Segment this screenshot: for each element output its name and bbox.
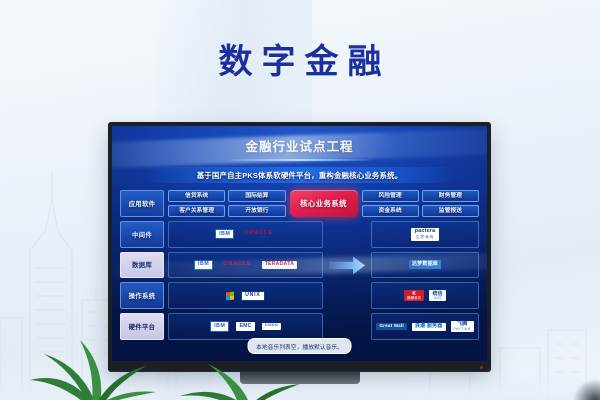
plant-left: [16, 324, 166, 400]
database-legacy-panel: IBM ORACLE TERADATA: [168, 252, 323, 279]
app-box-settlement[interactable]: 国际结算: [228, 190, 285, 202]
unix-logo: UNIX: [241, 291, 265, 301]
app-box-risk[interactable]: 风险管理: [362, 190, 419, 202]
hardware-arrow-cell: [327, 313, 367, 340]
app-box-regulatory[interactable]: 监管报送: [422, 205, 479, 217]
layer-chip-application[interactable]: 应用软件: [120, 190, 164, 217]
kylin-logo-subtext: 麒麟软件: [407, 297, 421, 300]
application-layer-row: 信贷系统 国际结算 客户关系管理 开放银行 核心业务系统 风险管理 财务管理 资…: [168, 190, 479, 217]
middleware-layer-row: IBM ORACLE pactera 文思海辉: [168, 221, 479, 248]
os-domestic-panel: K 麒麟软件 统信 UOS: [371, 282, 479, 309]
hardware-domestic-panel: Great Wall 浪潮 服务器 飞腾 PHYTIUM: [371, 313, 479, 340]
emc-logo: EMC: [236, 322, 254, 330]
oracle-logo-middleware: ORACLE: [241, 230, 275, 239]
slide-title: 金融行业试点工程: [120, 136, 479, 155]
windows-icon: [226, 291, 234, 300]
tv-screen: 金融行业试点工程 基于国产自主PKS体系软硬件平台，重构金融核心业务系统。 应用…: [112, 126, 487, 361]
database-domestic-panel: 达梦数据库: [371, 252, 479, 279]
layer-chip-os[interactable]: 操作系统: [120, 282, 164, 309]
database-arrow-cell: [327, 252, 367, 279]
page-title: 数字金融: [0, 34, 600, 83]
diagram-body: 信贷系统 国际结算 客户关系管理 开放银行 核心业务系统 风险管理 财务管理 资…: [168, 190, 479, 340]
application-left-group: 信贷系统 国际结算 客户关系管理 开放银行: [168, 190, 286, 217]
greatwall-logo: Great Wall: [376, 323, 407, 331]
core-business-system-box[interactable]: 核心业务系统: [290, 190, 358, 217]
migration-arrow-icon: [327, 252, 367, 279]
dameng-logo: 达梦数据库: [409, 260, 441, 269]
presentation-slide: 金融行业试点工程 基于国产自主PKS体系软硬件平台，重构金融核心业务系统。 应用…: [112, 126, 487, 361]
database-layer-row: IBM ORACLE TERADATA: [168, 252, 479, 279]
application-right-group: 风险管理 财务管理 资金系统 监管报送: [362, 190, 480, 217]
kylin-logo: K 麒麟软件: [404, 290, 424, 301]
teradata-logo-database: TERADATA: [262, 261, 297, 269]
pactera-logo-text: pactera: [415, 229, 436, 234]
oracle-logo-database: ORACLE: [220, 261, 254, 270]
cisco-logo: cisco: [262, 323, 281, 331]
architecture-diagram: 应用软件 中间件 数据库 操作系统 硬件平台 信贷系统 国际结算: [120, 190, 479, 340]
app-box-crm[interactable]: 客户关系管理: [168, 205, 225, 217]
pactera-logo: pactera 文思海辉: [411, 228, 440, 241]
slide-header: 金融行业试点工程 基于国产自主PKS体系软硬件平台，重构金融核心业务系统。: [120, 136, 479, 183]
app-box-treasury[interactable]: 资金系统: [362, 205, 419, 217]
ibm-logo-database: IBM: [194, 260, 213, 270]
layer-label-column: 应用软件 中间件 数据库 操作系统 硬件平台: [120, 190, 164, 340]
os-arrow-cell: [327, 282, 367, 309]
os-legacy-panel: UNIX: [168, 282, 323, 309]
title-divider: [225, 159, 375, 161]
windows-logo: [226, 292, 234, 300]
hardware-layer-row: IBM EMC cisco Great Wall 浪潮 服务器 飞腾 PHY: [168, 313, 479, 340]
room-scene: 数字金融 金融行业试点工程 基于国产自主PKS体系软硬件平台，重构金融核心业务系…: [0, 0, 600, 400]
middleware-arrow-cell: [327, 221, 367, 248]
app-box-credit[interactable]: 信贷系统: [168, 190, 225, 202]
slide-subtitle: 基于国产自主PKS体系软硬件平台，重构金融核心业务系统。: [145, 167, 454, 183]
tv-power-indicator: [480, 366, 483, 369]
middleware-legacy-panel: IBM ORACLE: [168, 221, 323, 248]
hardware-legacy-panel: IBM EMC cisco: [168, 313, 323, 340]
layer-chip-database[interactable]: 数据库: [120, 252, 164, 279]
foreground-shadow: [552, 360, 600, 400]
plant-center: [150, 348, 320, 400]
middleware-domestic-panel: pactera 文思海辉: [371, 221, 479, 248]
pactera-logo-subtext: 文思海辉: [416, 236, 434, 240]
app-box-open-bank[interactable]: 开放银行: [228, 205, 285, 217]
os-layer-row: UNIX K 麒麟软件 统信 UOS: [168, 282, 479, 309]
phytium-logo-subtext: PHYTIUM: [454, 328, 471, 331]
phytium-logo: 飞腾 PHYTIUM: [451, 321, 474, 332]
ibm-logo-middleware: IBM: [215, 229, 234, 239]
uos-logo: 统信 UOS: [429, 290, 445, 301]
app-box-finance[interactable]: 财务管理: [422, 190, 479, 202]
layer-chip-middleware[interactable]: 中间件: [120, 221, 164, 248]
uos-logo-subtext: UOS: [434, 297, 442, 300]
inspur-logo: 浪潮 服务器: [412, 323, 446, 331]
ibm-logo-hardware: IBM: [210, 321, 229, 331]
